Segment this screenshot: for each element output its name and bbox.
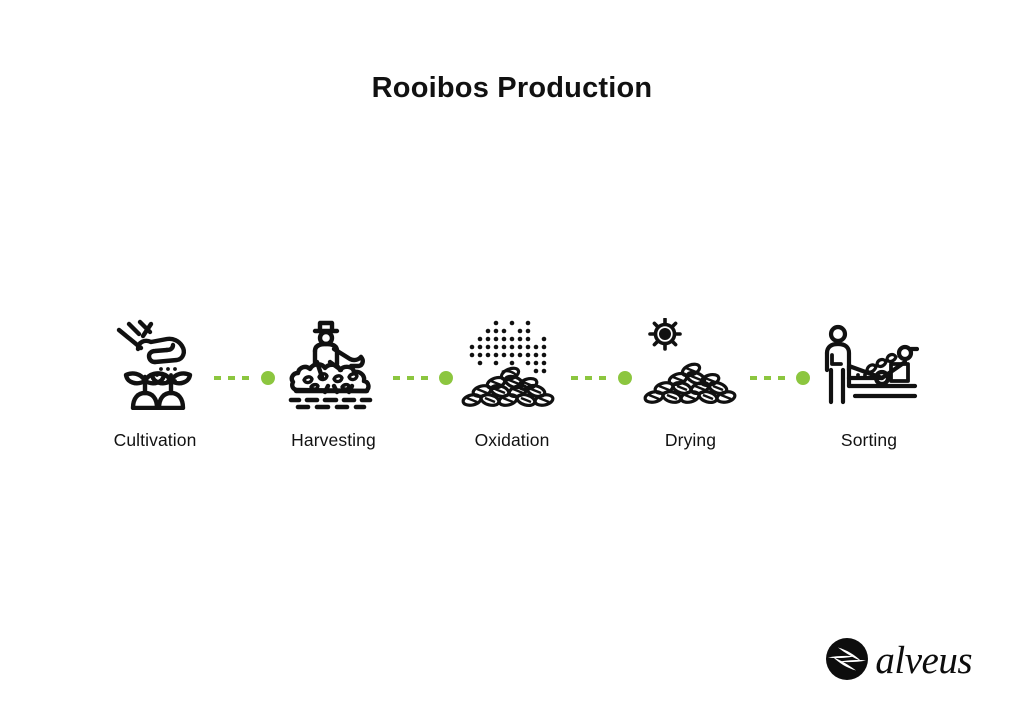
process-step-label: Harvesting bbox=[291, 430, 376, 451]
alveus-swoosh-circle-logo-icon bbox=[825, 637, 869, 686]
process-step-cultivation[interactable]: Cultivation bbox=[96, 318, 214, 451]
connector-4 bbox=[750, 318, 811, 410]
connector-dot bbox=[439, 371, 453, 385]
brand-logo[interactable]: alveus bbox=[825, 637, 972, 686]
worker-at-conveyor-belt-icon bbox=[814, 318, 924, 410]
process-step-harvesting[interactable]: Harvesting bbox=[275, 318, 393, 451]
farmer-harvesting-bush-icon bbox=[279, 318, 389, 410]
connector-1 bbox=[214, 318, 275, 410]
connector-dashed-line bbox=[750, 376, 792, 380]
hand-trowel-watering-seedlings-icon bbox=[100, 318, 210, 410]
process-step-drying[interactable]: Drying bbox=[632, 318, 750, 451]
connector-3 bbox=[571, 318, 632, 410]
production-process-flow: Cultivation bbox=[96, 318, 928, 468]
connector-dashed-line bbox=[214, 376, 256, 380]
process-step-label: Cultivation bbox=[114, 430, 197, 451]
brand-name: alveus bbox=[875, 641, 972, 683]
process-step-label: Sorting bbox=[841, 430, 897, 451]
connector-dot bbox=[796, 371, 810, 385]
process-step-label: Oxidation bbox=[475, 430, 550, 451]
page-title: Rooibos Production bbox=[0, 72, 1024, 105]
connector-dashed-line bbox=[393, 376, 435, 380]
connector-2 bbox=[393, 318, 454, 410]
process-step-sorting[interactable]: Sorting bbox=[810, 318, 928, 451]
process-step-oxidation[interactable]: Oxidation bbox=[453, 318, 571, 451]
connector-dot bbox=[261, 371, 275, 385]
connector-dashed-line bbox=[571, 376, 613, 380]
process-step-label: Drying bbox=[665, 430, 716, 451]
connector-dot bbox=[618, 371, 632, 385]
leaf-pile-with-vapor-dots-icon bbox=[457, 318, 567, 410]
sun-over-leaf-pile-icon bbox=[636, 318, 746, 410]
